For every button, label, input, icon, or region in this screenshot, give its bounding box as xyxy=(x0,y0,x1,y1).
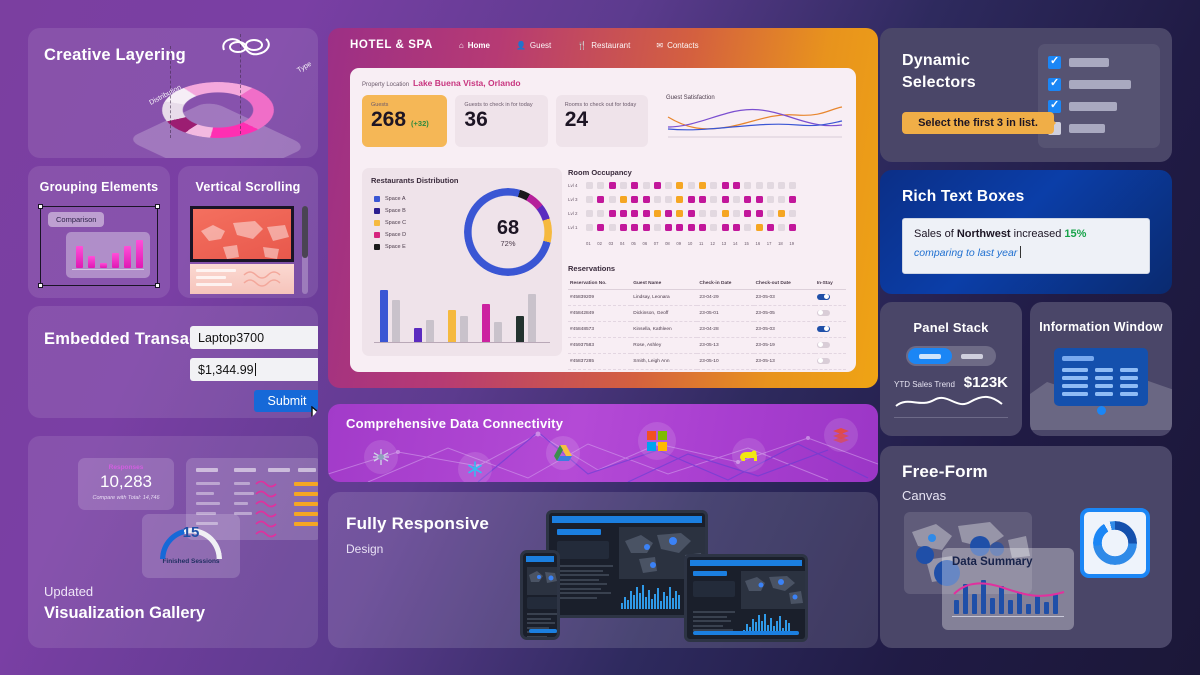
amount-input[interactable]: $1,344.99 xyxy=(190,358,318,381)
mail-icon: ✉ xyxy=(656,41,663,50)
product-name-value: Laptop3700 xyxy=(198,331,264,345)
world-map-icon xyxy=(193,209,294,262)
gallery-title: Visualization Gallery xyxy=(44,604,205,623)
legend-item: Space C xyxy=(374,220,406,226)
rich-text-line-1: Sales of Northwest increased 15% xyxy=(914,228,1138,240)
table-cell: 23-05-19 xyxy=(754,338,815,354)
table-column-header: Check-in Date xyxy=(697,278,753,290)
occupancy-cell[interactable] xyxy=(586,224,593,231)
occupancy-cell[interactable] xyxy=(733,196,740,203)
occupancy-col-label: 05 xyxy=(631,241,636,246)
restaurants-legend: Space A Space B Space C Space D Space E xyxy=(374,196,406,256)
item-label-placeholder xyxy=(1069,102,1117,111)
occupancy-row-label: Lvl 4 xyxy=(568,183,578,188)
vertical-scrolling-title: Vertical Scrolling xyxy=(178,180,318,194)
table-cell-in-stay xyxy=(815,306,846,322)
occupancy-cell[interactable] xyxy=(789,196,796,203)
occupancy-cell[interactable] xyxy=(586,196,593,203)
occupancy-cell[interactable] xyxy=(665,196,672,203)
panel-data-connectivity: Comprehensive Data Connectivity xyxy=(328,404,878,482)
occupancy-cell[interactable] xyxy=(609,210,616,217)
item-label-placeholder xyxy=(1069,124,1105,133)
hotel-dashboard-body: Property LocationLake Buena Vista, Orlan… xyxy=(350,68,856,372)
occupancy-cell[interactable] xyxy=(722,196,729,203)
ytd-sparkline xyxy=(894,392,1004,414)
occupancy-cell[interactable] xyxy=(609,182,616,189)
occupancy-cell[interactable] xyxy=(643,224,650,231)
occupancy-cell[interactable] xyxy=(643,210,650,217)
occupancy-cell[interactable] xyxy=(744,210,751,217)
information-window-title: Information Window xyxy=(1030,320,1172,334)
occupancy-cell[interactable] xyxy=(767,224,774,231)
gauge-value: 15 xyxy=(142,524,240,541)
home-icon: ⌂ xyxy=(459,41,464,50)
property-location-value: Lake Buena Vista, Orlando xyxy=(413,78,521,88)
occupancy-cell[interactable] xyxy=(767,210,774,217)
fully-responsive-title: Fully Responsive xyxy=(346,514,489,534)
occupancy-cell[interactable] xyxy=(654,196,661,203)
donut-center-value: 68 xyxy=(497,217,519,240)
panel-stack-title: Panel Stack xyxy=(880,320,1022,335)
panel-embedded-transactions: Embedded Transactions Laptop3700 $1,344.… xyxy=(28,306,318,418)
responses-label: Responses xyxy=(78,464,174,471)
rich-text-bold-region: Northwest xyxy=(957,228,1011,240)
isometric-donut-illustration: Distribution Type xyxy=(118,32,318,158)
property-location: Property LocationLake Buena Vista, Orlan… xyxy=(362,78,844,88)
dynamic-selectors-title: Dynamic Selectors xyxy=(902,50,1022,93)
occupancy-cell[interactable] xyxy=(676,224,683,231)
nav-label-home: Home xyxy=(468,41,490,50)
occupancy-col-label: 10 xyxy=(688,241,693,246)
table-cell: 23-05-03 xyxy=(754,322,815,338)
list-item[interactable] xyxy=(1048,78,1150,91)
responses-compare: Compare with Total: 14,746 xyxy=(78,495,174,501)
occupancy-cell[interactable] xyxy=(710,196,717,203)
table-cell: 23-05-03 xyxy=(754,290,815,306)
hotel-navbar: HOTEL & SPA ⌂ Home 👤 Guest 🍴 Restaurant … xyxy=(328,28,878,62)
item-label-placeholder xyxy=(1069,80,1131,89)
kpi-checkout-value: 24 xyxy=(565,108,639,132)
nav-item-contacts[interactable]: ✉ Contacts xyxy=(656,41,698,50)
databricks-icon[interactable] xyxy=(364,440,398,474)
selection-handle-nw[interactable] xyxy=(38,204,43,209)
occupancy-cell[interactable] xyxy=(699,182,706,189)
panel-free-form-canvas: Free-Form Canvas Data Summary xyxy=(880,446,1172,648)
occupancy-row-label: Lvl 3 xyxy=(568,197,578,202)
swirl-icon xyxy=(218,34,274,60)
scroll-lower-content xyxy=(190,264,294,294)
table-column-header: Guest Name xyxy=(631,278,697,290)
occupancy-cell[interactable] xyxy=(665,210,672,217)
occupancy-cell[interactable] xyxy=(631,224,638,231)
text-caret xyxy=(255,363,256,376)
panel-fully-responsive: Fully Responsive Design xyxy=(328,492,878,648)
info-row xyxy=(1062,384,1140,388)
microsoft-icon[interactable] xyxy=(638,422,676,460)
occupancy-cell[interactable] xyxy=(586,182,593,189)
grouping-elements-title: Grouping Elements xyxy=(28,180,170,194)
occupancy-cell[interactable] xyxy=(789,182,796,189)
occupancy-cell[interactable] xyxy=(778,182,785,189)
occupancy-row-label: Lvl 2 xyxy=(568,211,578,216)
occupancy-cell[interactable] xyxy=(710,182,717,189)
info-window-header xyxy=(1062,356,1094,361)
data-summary-widget[interactable]: Data Summary xyxy=(942,548,1074,630)
rich-text-percent: 15% xyxy=(1064,228,1086,240)
occupancy-col-label: 07 xyxy=(654,241,659,246)
nav-item-guest[interactable]: 👤 Guest xyxy=(516,41,551,50)
occupancy-cell[interactable] xyxy=(756,224,763,231)
device-tablet xyxy=(684,554,808,642)
comparison-chip[interactable]: Comparison xyxy=(48,212,104,227)
occupancy-col-label: 17 xyxy=(767,241,772,246)
fully-responsive-subtitle: Design xyxy=(346,542,383,556)
segment-label-2 xyxy=(961,354,983,359)
occupancy-cell[interactable] xyxy=(620,210,627,217)
card-restaurants-distribution: Restaurants Distribution Space A Space B… xyxy=(362,168,562,356)
legend-item: Space E xyxy=(374,244,406,250)
rich-text-seg-c: increased xyxy=(1011,228,1065,240)
occupancy-col-label: 16 xyxy=(756,241,761,246)
table-cell: 23-05-13 xyxy=(754,354,815,370)
table-cell: Kinsella, Kathleen xyxy=(631,322,697,338)
occupancy-cell[interactable] xyxy=(688,196,695,203)
occupancy-col-label: 13 xyxy=(722,241,727,246)
occupancy-cell[interactable] xyxy=(744,182,751,189)
guest-satisfaction-label: Guest Satisfaction xyxy=(666,95,844,101)
occupancy-cell[interactable] xyxy=(699,210,706,217)
table-header-row: Reservation No.Guest NameCheck-in DateCh… xyxy=(568,278,846,290)
kpi-checkin: Guests to check in for today 36 xyxy=(455,95,547,147)
product-name-input[interactable]: Laptop3700 xyxy=(190,326,318,349)
data-summary-axis xyxy=(952,616,1064,618)
table-cell-in-stay xyxy=(815,322,846,338)
table-cell: #45848573 xyxy=(568,322,631,338)
segment-label-1 xyxy=(919,354,941,359)
card-room-occupancy: Room Occupancy Lvl 4Lvl 3Lvl 2Lvl 101020… xyxy=(568,168,846,260)
occupancy-cell[interactable] xyxy=(597,182,604,189)
segmented-toggle[interactable] xyxy=(906,346,996,366)
toggle-off[interactable] xyxy=(817,358,830,364)
reservations-table: Reservation No.Guest NameCheck-in DateCh… xyxy=(568,278,846,370)
occupancy-cell[interactable] xyxy=(597,224,604,231)
panel-visualization-gallery: Responses 10,283 Compare with Total: 14,… xyxy=(28,436,318,648)
occupancy-cell[interactable] xyxy=(631,196,638,203)
ytd-sales-value: $123K xyxy=(964,374,1008,391)
occupancy-cell[interactable] xyxy=(597,210,604,217)
info-row xyxy=(1062,376,1140,380)
hotel-brand: HOTEL & SPA xyxy=(350,39,433,51)
user-icon: 👤 xyxy=(516,41,526,50)
selection-handle-ne[interactable] xyxy=(155,204,160,209)
scroll-map-preview xyxy=(190,206,294,262)
restaurants-title: Restaurants Distribution xyxy=(371,176,553,185)
occupancy-cell[interactable] xyxy=(620,196,627,203)
device-phone xyxy=(520,550,560,640)
panel-hotel-dashboard: HOTEL & SPA ⌂ Home 👤 Guest 🍴 Restaurant … xyxy=(328,28,878,388)
info-row xyxy=(1062,368,1140,372)
text-caret xyxy=(1020,246,1021,258)
occupancy-cell[interactable] xyxy=(710,224,717,231)
panel-information-window: Information Window xyxy=(1030,302,1172,436)
rich-text-line-2: comparing to last year xyxy=(914,246,1138,259)
kpi-checkout: Rooms to check out for today 24 xyxy=(556,95,648,147)
info-window-popup[interactable] xyxy=(1054,348,1148,406)
occupancy-col-label: 02 xyxy=(597,241,602,246)
grouping-mini-chart xyxy=(66,232,150,278)
occupancy-col-label: 04 xyxy=(620,241,625,246)
satisfaction-sparklines xyxy=(666,103,844,141)
occupancy-cell[interactable] xyxy=(620,224,627,231)
info-row xyxy=(1062,392,1140,396)
item-label-placeholder xyxy=(1069,58,1109,67)
occupancy-col-label: 18 xyxy=(778,241,783,246)
occupancy-cell[interactable] xyxy=(665,182,672,189)
legend-item: Space A xyxy=(374,196,406,202)
occupancy-cell[interactable] xyxy=(767,196,774,203)
occupancy-cell[interactable] xyxy=(688,182,695,189)
selection-handle-sw[interactable] xyxy=(38,283,43,288)
gallery-gauge-card: 15 Finished Sessions xyxy=(142,514,240,578)
wave-lines-icon xyxy=(242,267,290,293)
occupancy-col-label: 19 xyxy=(789,241,794,246)
occupancy-cell[interactable] xyxy=(789,210,796,217)
tooltip-select-first-3: Select the first 3 in list. xyxy=(902,112,1054,134)
table-column-header: Check-out Date xyxy=(754,278,815,290)
occupancy-title: Room Occupancy xyxy=(568,168,846,177)
table-cell: 23-05-01 xyxy=(697,306,753,322)
occupancy-cell[interactable] xyxy=(620,182,627,189)
occupancy-cell[interactable] xyxy=(665,224,672,231)
occupancy-col-label: 03 xyxy=(609,241,614,246)
occupancy-col-label: 08 xyxy=(665,241,670,246)
amount-value: $1,344.99 xyxy=(198,363,254,377)
toggle-off[interactable] xyxy=(817,310,830,316)
cutlery-icon: 🍴 xyxy=(577,41,587,50)
kpi-guests-delta: (+32) xyxy=(411,119,429,128)
panel-panel-stack: Panel Stack YTD Sales Trend $123K xyxy=(880,302,1022,436)
table-cell: Rose, Ashley xyxy=(631,338,697,354)
occupancy-cell[interactable] xyxy=(688,210,695,217)
occupancy-col-label: 06 xyxy=(643,241,648,246)
data-summary-title: Data Summary xyxy=(952,556,1064,568)
table-row[interactable]: #45842849Dickinson, Geoff23-05-0123-05-0… xyxy=(568,306,846,322)
table-body: #45839209Lindsay, Leonara23-04-2923-05-0… xyxy=(568,290,846,370)
checkbox-checked[interactable] xyxy=(1048,56,1061,69)
occupancy-col-label: 09 xyxy=(676,241,681,246)
kpi-checkin-value: 36 xyxy=(464,108,538,132)
table-cell: #45937583 xyxy=(568,338,631,354)
table-row[interactable]: #45937583Rose, Ashley23-05-1323-05-19 xyxy=(568,338,846,354)
occupancy-cell[interactable] xyxy=(756,196,763,203)
occupancy-col-label: 15 xyxy=(744,241,749,246)
toggle-on[interactable] xyxy=(817,294,830,300)
panel-grouping-elements: Grouping Elements Comparison xyxy=(28,166,170,298)
occupancy-cell[interactable] xyxy=(654,210,661,217)
occupancy-cell[interactable] xyxy=(744,224,751,231)
occupancy-cell[interactable] xyxy=(778,196,785,203)
snowflake-icon[interactable] xyxy=(458,452,492,482)
guest-satisfaction-chart: Guest Satisfaction xyxy=(656,95,844,146)
occupancy-cell[interactable] xyxy=(722,224,729,231)
list-item[interactable] xyxy=(1048,100,1150,113)
table-row[interactable]: #45848573Kinsella, Kathleen23-04-2823-05… xyxy=(568,322,846,338)
hadoop-icon[interactable] xyxy=(732,438,766,472)
table-column-header: Reservation No. xyxy=(568,278,631,290)
occupancy-cell[interactable] xyxy=(722,210,729,217)
occupancy-col-label: 01 xyxy=(586,241,591,246)
gallery-responses-card: Responses 10,283 Compare with Total: 14,… xyxy=(78,458,174,510)
rich-text-title: Rich Text Boxes xyxy=(902,188,1024,206)
free-form-title: Free-Form xyxy=(902,462,988,482)
nav-item-home[interactable]: ⌂ Home xyxy=(459,41,490,50)
responses-value: 10,283 xyxy=(78,472,174,492)
checkbox-checked[interactable] xyxy=(1048,78,1061,91)
table-cell: Lindsay, Leonara xyxy=(631,290,697,306)
occupancy-cell[interactable] xyxy=(643,182,650,189)
occupancy-cell[interactable] xyxy=(744,196,751,203)
kpi-guests: Guests 268(+32) xyxy=(362,95,447,147)
list-item[interactable] xyxy=(1048,56,1150,69)
occupancy-cell[interactable] xyxy=(733,182,740,189)
nav-label-contacts: Contacts xyxy=(667,41,699,50)
occupancy-cell[interactable] xyxy=(756,210,763,217)
panel-vertical-scrolling: Vertical Scrolling xyxy=(178,166,318,298)
table-cell: 23-04-28 xyxy=(697,322,753,338)
restaurants-bar-chart xyxy=(374,286,550,344)
occupancy-cell[interactable] xyxy=(688,224,695,231)
occupancy-cell[interactable] xyxy=(654,182,661,189)
reservations-title: Reservations xyxy=(568,264,846,273)
occupancy-cell[interactable] xyxy=(654,224,661,231)
table-cell: #45837285 xyxy=(568,354,631,370)
free-form-subtitle: Canvas xyxy=(902,488,946,503)
table-cell: 23-05-05 xyxy=(754,306,815,322)
card-reservations: Reservations Reservation No.Guest NameCh… xyxy=(568,264,846,366)
table-cell: 23-04-29 xyxy=(697,290,753,306)
selector-list xyxy=(1038,44,1160,148)
map-pin-icon[interactable] xyxy=(1097,406,1106,415)
table-column-header: In-Stay xyxy=(815,278,846,290)
table-cell-in-stay xyxy=(815,354,846,370)
table-cell: #45842849 xyxy=(568,306,631,322)
kpi-row: Guests 268(+32) Guests to check in for t… xyxy=(362,95,844,147)
donut-center-label: 68 72% xyxy=(464,188,552,276)
occupancy-cell[interactable] xyxy=(767,182,774,189)
occupancy-cell[interactable] xyxy=(733,224,740,231)
occupancy-cell[interactable] xyxy=(609,224,616,231)
gallery-updated-label: Updated xyxy=(44,584,93,599)
occupancy-cell[interactable] xyxy=(609,196,616,203)
table-cell: #45839209 xyxy=(568,290,631,306)
iso-label-type: Type xyxy=(296,61,313,75)
scrollbar-thumb[interactable] xyxy=(302,206,308,258)
ytd-sales-label: YTD Sales Trend xyxy=(894,380,955,389)
panel-creative-layering: Creative Layering Distribution Type xyxy=(28,28,318,158)
occupancy-cell[interactable] xyxy=(733,210,740,217)
occupancy-cell[interactable] xyxy=(676,210,683,217)
property-location-label: Property Location xyxy=(362,82,409,88)
panel-rich-text-boxes: Rich Text Boxes Sales of Northwest incre… xyxy=(880,170,1172,294)
nav-item-restaurant[interactable]: 🍴 Restaurant xyxy=(577,41,630,50)
selection-handle-se[interactable] xyxy=(155,283,160,288)
table-cell: 23-05-13 xyxy=(697,338,753,354)
occupancy-cell[interactable] xyxy=(631,182,638,189)
nav-label-restaurant: Restaurant xyxy=(591,41,630,50)
table-cell-in-stay xyxy=(815,290,846,306)
google-drive-icon[interactable] xyxy=(546,436,580,470)
occupancy-cell[interactable] xyxy=(643,196,650,203)
table-cell: Dickinson, Geoff xyxy=(631,306,697,322)
occupancy-cell[interactable] xyxy=(586,210,593,217)
ytd-baseline xyxy=(894,417,1008,419)
toggle-off[interactable] xyxy=(817,342,830,348)
occupancy-col-label: 14 xyxy=(733,241,738,246)
occupancy-cell[interactable] xyxy=(722,182,729,189)
occupancy-cell[interactable] xyxy=(676,182,683,189)
list-item[interactable] xyxy=(1048,122,1150,135)
toggle-on[interactable] xyxy=(817,326,830,332)
legend-item: Space D xyxy=(374,232,406,238)
occupancy-cell[interactable] xyxy=(789,224,796,231)
app-root: Creative Layering Distribution Type Grou… xyxy=(0,0,1200,675)
donut-center-pct: 72% xyxy=(500,239,515,248)
occupancy-cell[interactable] xyxy=(676,196,683,203)
occupancy-col-label: 12 xyxy=(710,241,715,246)
rich-text-editor[interactable]: Sales of Northwest increased 15% compari… xyxy=(902,218,1150,274)
table-row[interactable]: #45837285Smith, Leigh Ann23-05-1023-05-1… xyxy=(568,354,846,370)
occupancy-cell[interactable] xyxy=(778,210,785,217)
occupancy-cell[interactable] xyxy=(699,224,706,231)
kpi-guests-value: 268(+32) xyxy=(371,108,438,132)
occupancy-cell[interactable] xyxy=(756,182,763,189)
data-connectivity-title: Comprehensive Data Connectivity xyxy=(346,416,563,431)
submit-button[interactable]: Submit xyxy=(254,390,318,412)
nav-label-guest: Guest xyxy=(530,41,551,50)
occupancy-cell[interactable] xyxy=(631,210,638,217)
occupancy-row-label: Lvl 1 xyxy=(568,225,578,230)
occupancy-col-label: 11 xyxy=(699,241,703,246)
summary-overlay-line xyxy=(952,578,1066,608)
table-cell-in-stay xyxy=(815,338,846,354)
table-cell: Smith, Leigh Ann xyxy=(631,354,697,370)
table-row[interactable]: #45839209Lindsay, Leonara23-04-2923-05-0… xyxy=(568,290,846,306)
occupancy-cell[interactable] xyxy=(778,224,785,231)
occupancy-cell[interactable] xyxy=(710,210,717,217)
donut-widget-selected[interactable] xyxy=(1080,508,1150,578)
table-cell: 23-05-10 xyxy=(697,354,753,370)
occupancy-cell[interactable] xyxy=(699,196,706,203)
panel-dynamic-selectors: Dynamic Selectors Select the first 3 in … xyxy=(880,28,1172,162)
legend-item: Space B xyxy=(374,208,406,214)
occupancy-cell[interactable] xyxy=(597,196,604,203)
rich-text-seg-a: Sales of xyxy=(914,228,957,240)
stack-icon[interactable] xyxy=(824,418,858,452)
sparkline-column-icon xyxy=(254,478,288,540)
